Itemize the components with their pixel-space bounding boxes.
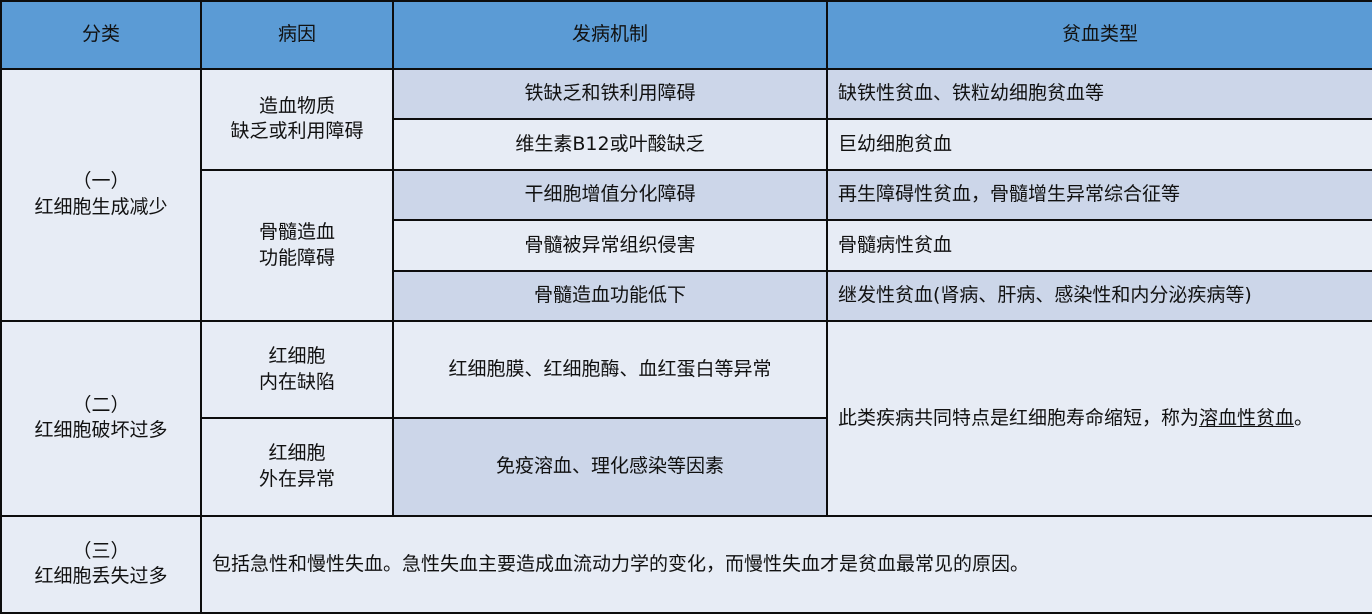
mechanism-cell: 维生素B12或叶酸缺乏 (393, 119, 827, 169)
table-row: （二） 红细胞破坏过多 红细胞 内在缺陷 红细胞膜、红细胞酶、血红蛋白等异常 此… (1, 321, 1372, 418)
anemia-type-underlined-term: 溶血性贫血 (1199, 407, 1294, 429)
anemia-type-suffix: 。 (1294, 407, 1313, 429)
section-category-label-1: 红细胞生成减少 (12, 195, 190, 221)
anemia-type-prefix: 此类疾病共同特点是红细胞寿命缩短，称为 (838, 407, 1199, 429)
anemia-classification-table: 分类 病因 发病机制 贫血类型 （一） 红细胞生成减少 造血物质 缺乏或利用障碍… (0, 0, 1372, 614)
section-category-cell-1: （一） 红细胞生成减少 (1, 69, 201, 321)
mechanism-cell: 免疫溶血、理化感染等因素 (393, 418, 827, 515)
mechanism-cell: 红细胞膜、红细胞酶、血红蛋白等异常 (393, 321, 827, 418)
column-header-cause: 病因 (201, 1, 393, 69)
section-index-label-3: （三） (12, 539, 190, 565)
table-header-row: 分类 病因 发病机制 贫血类型 (1, 1, 1372, 69)
cause-line-1: 骨髓造血 (212, 220, 382, 246)
anemia-type-cell: 继发性贫血(肾病、肝病、感染性和内分泌疾病等) (827, 271, 1372, 321)
anemia-type-cell: 巨幼细胞贫血 (827, 119, 1372, 169)
cause-line-2: 内在缺陷 (212, 370, 382, 396)
section-category-cell-3: （三） 红细胞丢失过多 (1, 516, 201, 613)
mechanism-cell: 骨髓造血功能低下 (393, 271, 827, 321)
cause-cell-1a: 造血物质 缺乏或利用障碍 (201, 69, 393, 170)
section-description-cell-3: 包括急性和慢性失血。急性失血主要造成血流动力学的变化，而慢性失血才是贫血最常见的… (201, 516, 1372, 613)
table-row: （三） 红细胞丢失过多 包括急性和慢性失血。急性失血主要造成血流动力学的变化，而… (1, 516, 1372, 613)
cause-line-1: 红细胞 (212, 344, 382, 370)
table-body: （一） 红细胞生成减少 造血物质 缺乏或利用障碍 铁缺乏和铁利用障碍 缺铁性贫血… (1, 69, 1372, 613)
section-index-label-1: （一） (12, 169, 190, 195)
cause-line-2: 外在异常 (212, 467, 382, 493)
cause-line-1: 造血物质 (212, 94, 382, 120)
table-row: 骨髓造血 功能障碍 干细胞增值分化障碍 再生障碍性贫血，骨髓增生异常综合征等 (1, 170, 1372, 220)
cause-line-2: 功能障碍 (212, 246, 382, 272)
table-row: （一） 红细胞生成减少 造血物质 缺乏或利用障碍 铁缺乏和铁利用障碍 缺铁性贫血… (1, 69, 1372, 119)
anemia-type-cell-merged: 此类疾病共同特点是红细胞寿命缩短，称为溶血性贫血。 (827, 321, 1372, 515)
cause-cell-1b: 骨髓造血 功能障碍 (201, 170, 393, 321)
table-header: 分类 病因 发病机制 贫血类型 (1, 1, 1372, 69)
cause-cell-2b: 红细胞 外在异常 (201, 418, 393, 515)
column-header-anemia-type: 贫血类型 (827, 1, 1372, 69)
mechanism-cell: 干细胞增值分化障碍 (393, 170, 827, 220)
cause-line-2: 缺乏或利用障碍 (212, 119, 382, 145)
cause-cell-2a: 红细胞 内在缺陷 (201, 321, 393, 418)
anemia-type-cell: 再生障碍性贫血，骨髓增生异常综合征等 (827, 170, 1372, 220)
section-index-label-2: （二） (12, 393, 190, 419)
section-category-label-3: 红细胞丢失过多 (12, 564, 190, 590)
anemia-type-cell: 骨髓病性贫血 (827, 220, 1372, 270)
column-header-mechanism: 发病机制 (393, 1, 827, 69)
cause-line-1: 红细胞 (212, 441, 382, 467)
mechanism-cell: 骨髓被异常组织侵害 (393, 220, 827, 270)
section-category-label-2: 红细胞破坏过多 (12, 418, 190, 444)
mechanism-cell: 铁缺乏和铁利用障碍 (393, 69, 827, 119)
section-category-cell-2: （二） 红细胞破坏过多 (1, 321, 201, 515)
anemia-type-cell: 缺铁性贫血、铁粒幼细胞贫血等 (827, 69, 1372, 119)
column-header-classification: 分类 (1, 1, 201, 69)
